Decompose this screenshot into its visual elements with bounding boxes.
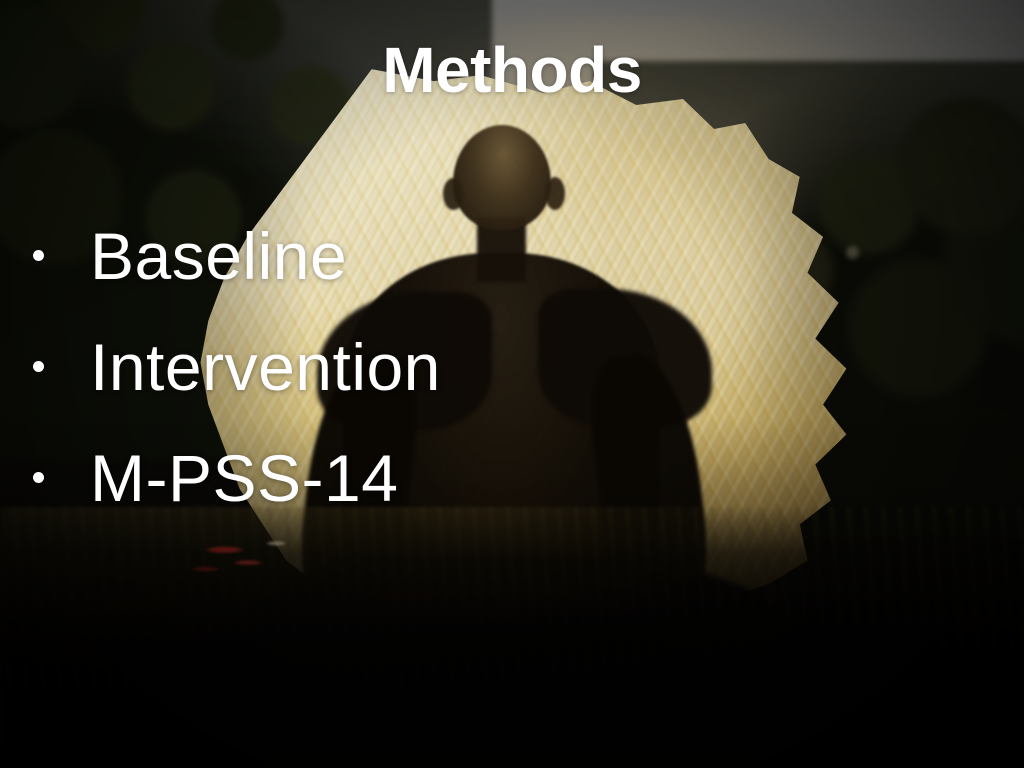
presentation-slide: Methods Baseline Intervention M-PSS-14 [0,0,1024,768]
list-item: Intervention [24,311,744,422]
list-item: M-PSS-14 [24,422,744,533]
bullet-item-label: Baseline [90,223,347,289]
slide-title: Methods [0,38,1024,102]
bullet-list: Baseline Intervention M-PSS-14 [24,200,744,533]
bullet-dot-icon [33,250,44,261]
bullet-dot-icon [33,361,44,372]
bullet-dot-icon [33,472,44,483]
bullet-item-label: M-PSS-14 [90,445,398,511]
list-item: Baseline [24,200,744,311]
slide-content: Methods Baseline Intervention M-PSS-14 [0,0,1024,768]
bullet-item-label: Intervention [90,334,441,400]
